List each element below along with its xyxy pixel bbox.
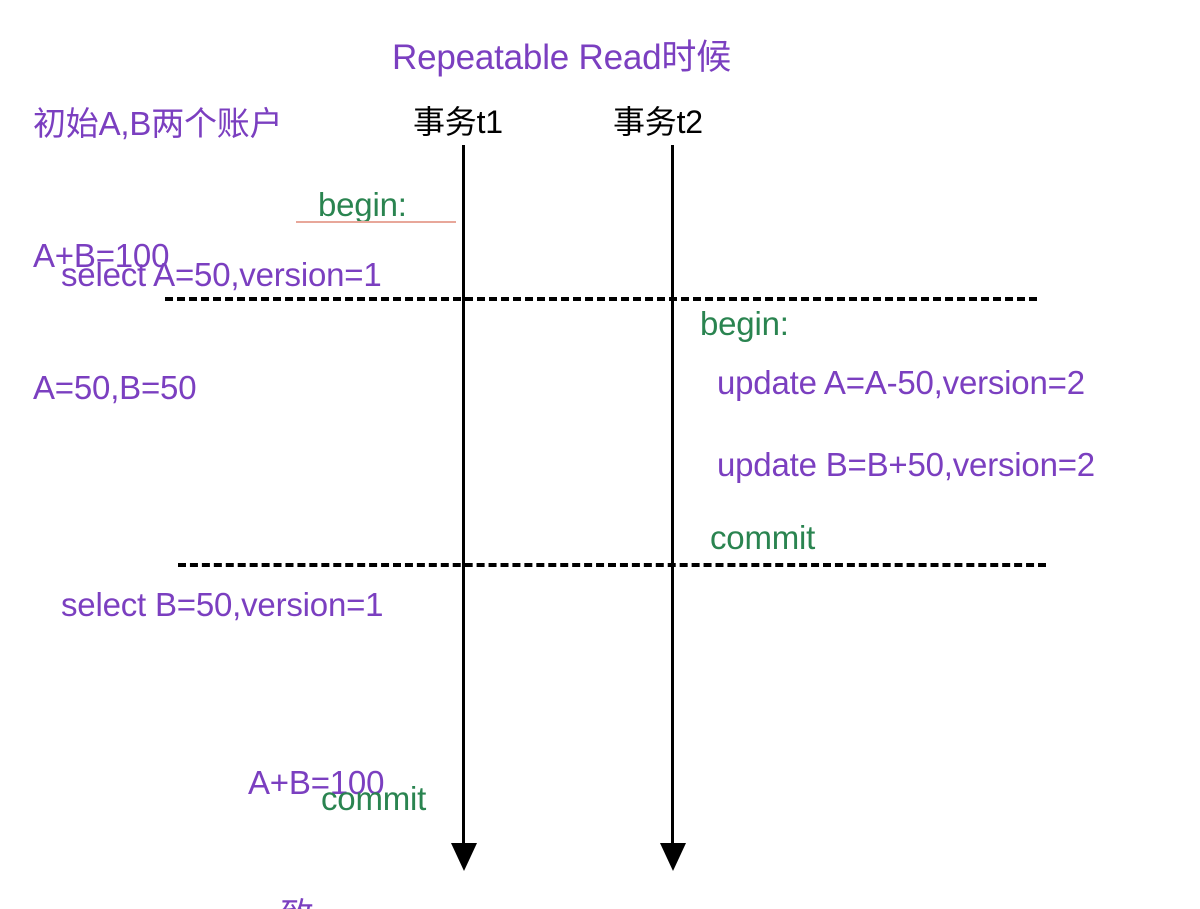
lifeline-label-t2: 事务t2 xyxy=(613,106,703,138)
time-separator-upper xyxy=(165,297,1037,301)
lifeline-arrow-icon-t2 xyxy=(660,843,686,871)
t1-begin-statement: begin: xyxy=(318,188,407,221)
lifeline-arrow-icon-t1 xyxy=(451,843,477,871)
initial-state-line-3: A=50,B=50 xyxy=(33,366,282,410)
t2-update-b-statement: update B=B+50,version=2 xyxy=(717,448,1095,481)
initial-state-line-1: 初始A,B两个账户 xyxy=(33,102,282,146)
t1-sum-line-2: 一致 xyxy=(248,893,384,909)
t2-commit-statement: commit xyxy=(710,521,815,554)
t1-select-a-statement: select A=50,version=1 xyxy=(61,258,382,291)
t1-commit-statement: commit xyxy=(321,782,426,815)
t2-update-a-statement: update A=A-50,version=2 xyxy=(717,366,1085,399)
diagram-title: Repeatable Read时候 xyxy=(392,40,731,75)
t1-begin-underline xyxy=(296,221,456,223)
t1-select-b-statement: select B=50,version=1 xyxy=(61,588,383,621)
lifeline-line-t1 xyxy=(462,145,465,845)
sequence-diagram-canvas: 初始A,B两个账户 A+B=100 A=50,B=50 Repeatable R… xyxy=(0,0,1200,909)
time-separator-lower xyxy=(178,563,1046,567)
lifeline-line-t2 xyxy=(671,145,674,845)
t2-begin-statement: begin: xyxy=(700,307,789,340)
lifeline-label-t1: 事务t1 xyxy=(413,106,503,138)
